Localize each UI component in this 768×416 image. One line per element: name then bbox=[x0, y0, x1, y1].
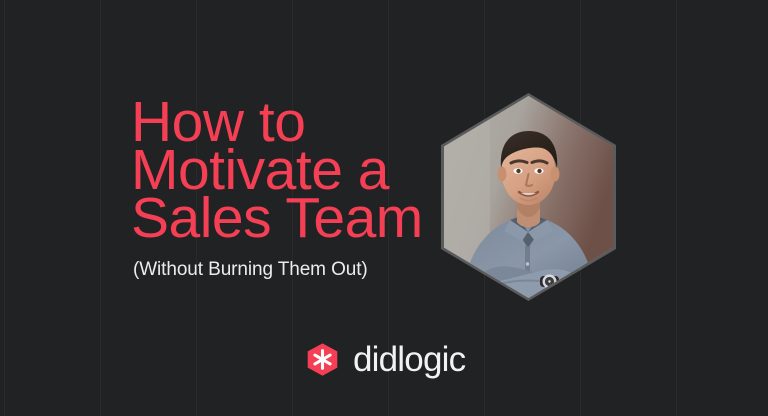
subtitle: (Without Burning Them Out) bbox=[133, 258, 368, 282]
didlogic-wordmark: didlogic bbox=[353, 342, 465, 377]
portrait-photo bbox=[444, 96, 613, 298]
portrait-hexagon-frame bbox=[441, 93, 616, 301]
headline-block: How to Motivate a Sales Team bbox=[131, 98, 431, 242]
didlogic-logo: didlogic bbox=[304, 341, 465, 378]
portrait-illustration bbox=[444, 96, 613, 298]
promo-slide: How to Motivate a Sales Team (Without Bu… bbox=[0, 0, 768, 416]
headline-line-3: Sales Team bbox=[131, 194, 431, 242]
didlogic-hexagon-asterisk-icon bbox=[304, 341, 341, 378]
page-title: How to Motivate a Sales Team bbox=[131, 98, 431, 242]
